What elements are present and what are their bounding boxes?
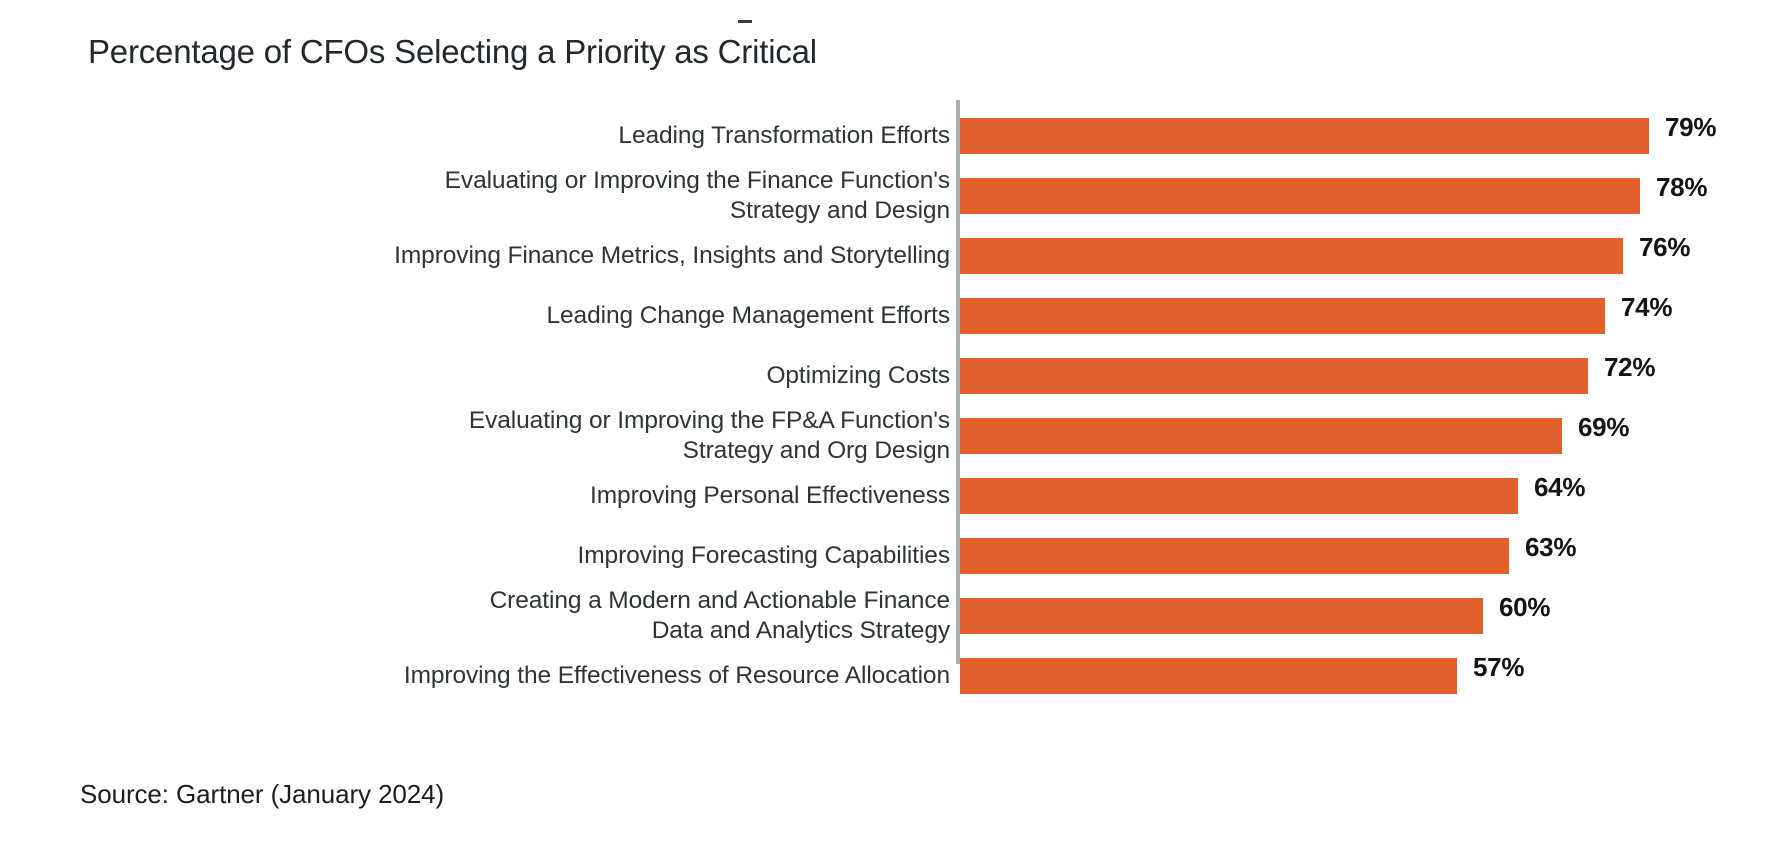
category-label-line: Leading Transformation Efforts	[110, 121, 950, 151]
category-label: Improving the Effectiveness of Resource …	[110, 661, 950, 691]
bar-track	[960, 538, 1509, 574]
bar-value-label: 69%	[1578, 412, 1629, 442]
category-label-line: Evaluating or Improving the Finance Func…	[110, 166, 950, 196]
bar-row: Leading Transformation Efforts79%	[0, 108, 1782, 164]
bar[interactable]	[960, 358, 1588, 394]
bar-value-label: 79%	[1665, 112, 1716, 142]
chart-title: Percentage of CFOs Selecting a Priority …	[88, 32, 817, 72]
bar-value-label: 72%	[1604, 352, 1655, 382]
category-label: Improving Forecasting Capabilities	[110, 541, 950, 571]
stray-dash-artifact	[738, 20, 752, 23]
bar-track	[960, 418, 1562, 454]
category-label-line: Data and Analytics Strategy	[110, 616, 950, 646]
bar-value-label: 76%	[1639, 232, 1690, 262]
bar-value-label: 60%	[1499, 592, 1550, 622]
category-label: Leading Change Management Efforts	[110, 301, 950, 331]
bar[interactable]	[960, 298, 1605, 334]
bar-value-label: 78%	[1656, 172, 1707, 202]
category-label-line: Improving Personal Effectiveness	[110, 481, 950, 511]
bar-track	[960, 658, 1457, 694]
category-label-line: Optimizing Costs	[110, 361, 950, 391]
bar-row: Leading Change Management Efforts74%	[0, 288, 1782, 344]
bar-value-label: 63%	[1525, 532, 1576, 562]
bar-row: Evaluating or Improving the Finance Func…	[0, 168, 1782, 224]
bar[interactable]	[960, 418, 1562, 454]
source-note: Source: Gartner (January 2024)	[80, 778, 444, 810]
bar-row: Creating a Modern and Actionable Finance…	[0, 588, 1782, 644]
category-label: Optimizing Costs	[110, 361, 950, 391]
bar-track	[960, 118, 1649, 154]
bar[interactable]	[960, 178, 1640, 214]
bar-value-label: 57%	[1473, 652, 1524, 682]
chart-canvas: Percentage of CFOs Selecting a Priority …	[0, 0, 1782, 856]
bar-value-label: 64%	[1534, 472, 1585, 502]
bar-track	[960, 238, 1623, 274]
category-label-line: Evaluating or Improving the FP&A Functio…	[110, 406, 950, 436]
bar-track	[960, 478, 1518, 514]
category-label: Leading Transformation Efforts	[110, 121, 950, 151]
bar-track	[960, 598, 1483, 634]
bar[interactable]	[960, 478, 1518, 514]
bar-row: Improving Finance Metrics, Insights and …	[0, 228, 1782, 284]
bar-row: Evaluating or Improving the FP&A Functio…	[0, 408, 1782, 464]
bar-row: Improving Personal Effectiveness64%	[0, 468, 1782, 524]
bar[interactable]	[960, 538, 1509, 574]
bar[interactable]	[960, 118, 1649, 154]
category-label: Improving Finance Metrics, Insights and …	[110, 241, 950, 271]
bar-row: Optimizing Costs72%	[0, 348, 1782, 404]
category-label: Improving Personal Effectiveness	[110, 481, 950, 511]
bar-track	[960, 358, 1588, 394]
category-label: Evaluating or Improving the Finance Func…	[110, 166, 950, 226]
category-label-line: Leading Change Management Efforts	[110, 301, 950, 331]
category-label-line: Creating a Modern and Actionable Finance	[110, 586, 950, 616]
category-label-line: Improving Finance Metrics, Insights and …	[110, 241, 950, 271]
category-label-line: Improving Forecasting Capabilities	[110, 541, 950, 571]
plot-area: Leading Transformation Efforts79%Evaluat…	[0, 96, 1782, 696]
bar-track	[960, 178, 1640, 214]
bar[interactable]	[960, 238, 1623, 274]
bar[interactable]	[960, 598, 1483, 634]
category-label-line: Strategy and Design	[110, 196, 950, 226]
category-label: Evaluating or Improving the FP&A Functio…	[110, 406, 950, 466]
category-label: Creating a Modern and Actionable Finance…	[110, 586, 950, 646]
bar-row: Improving Forecasting Capabilities63%	[0, 528, 1782, 584]
bar-value-label: 74%	[1621, 292, 1672, 322]
bar[interactable]	[960, 658, 1457, 694]
bar-track	[960, 298, 1605, 334]
category-label-line: Strategy and Org Design	[110, 436, 950, 466]
category-label-line: Improving the Effectiveness of Resource …	[110, 661, 950, 691]
bar-row: Improving the Effectiveness of Resource …	[0, 648, 1782, 704]
